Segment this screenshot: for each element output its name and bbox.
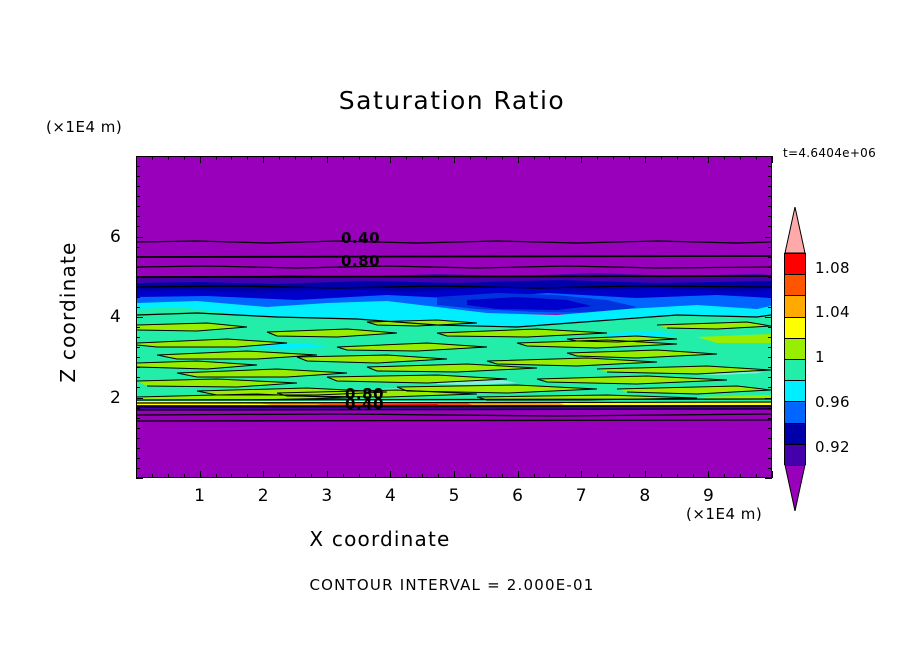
x-axis-tick — [406, 474, 407, 478]
y-axis-tick-right — [768, 206, 772, 207]
y-axis-tick-right — [768, 226, 772, 227]
y-axis-tick — [136, 408, 140, 409]
y-axis-tick-right — [768, 257, 772, 258]
colorbar-band — [785, 339, 805, 360]
x-axis-tick — [327, 471, 328, 478]
x-axis-tick-top — [693, 156, 694, 160]
y-axis-tick-right — [768, 327, 772, 328]
y-axis-tick-right — [768, 176, 772, 177]
x-axis-tick-top — [216, 156, 217, 160]
y-axis-tick — [136, 377, 140, 378]
y-axis-tick-right — [768, 287, 772, 288]
y-axis-tick-right — [768, 438, 772, 439]
y-axis-tick-right — [765, 317, 772, 318]
x-axis-tick — [581, 471, 582, 478]
x-axis-tick — [724, 474, 725, 478]
x-axis-tick — [486, 474, 487, 478]
y-axis-tick — [136, 468, 140, 469]
x-axis-tick-top — [263, 156, 264, 163]
contour-label-040-lower: 0.40 — [345, 395, 384, 413]
x-axis-tick — [295, 474, 296, 478]
x-axis-tick — [438, 474, 439, 478]
x-axis-tick-label: 3 — [321, 486, 332, 506]
contour-label-080-upper: 0.80 — [341, 252, 380, 270]
x-axis-tick-top — [438, 156, 439, 160]
y-axis-tick-right — [768, 468, 772, 469]
x-axis-tick-top — [597, 156, 598, 160]
x-axis-tick-top — [136, 156, 137, 163]
y-axis-tick — [136, 387, 140, 388]
x-axis-tick-top — [327, 156, 328, 163]
y-axis-tick — [136, 398, 143, 399]
x-axis-tick-top — [708, 156, 709, 163]
x-axis-tick-top — [247, 156, 248, 160]
x-axis-tick-label: 6 — [512, 486, 523, 506]
x-axis-tick-top — [581, 156, 582, 163]
x-axis-tick — [216, 474, 217, 478]
x-axis-tick — [168, 474, 169, 478]
x-axis-tick-label: 9 — [703, 486, 714, 506]
x-axis-tick-top — [152, 156, 153, 160]
y-axis-tick — [136, 428, 140, 429]
x-axis-tick-top — [295, 156, 296, 160]
y-axis-tick-right — [768, 357, 772, 358]
y-axis-tick-right — [768, 267, 772, 268]
x-axis-tick — [263, 471, 264, 478]
x-axis-tick-label: 8 — [639, 486, 650, 506]
x-axis-tick — [247, 474, 248, 478]
x-axis-tick — [518, 471, 519, 478]
y-axis-tick — [136, 418, 140, 419]
y-axis-tick-right — [768, 297, 772, 298]
colorbar-band — [785, 381, 805, 402]
y-axis-tick — [136, 166, 140, 167]
contour-plot-area: 0.40 0.80 0.80 0.40 — [136, 156, 772, 478]
x-axis-tick-top — [406, 156, 407, 160]
y-axis-tick — [136, 438, 140, 439]
contour-label-040-upper: 0.40 — [341, 229, 380, 247]
x-axis-tick — [311, 474, 312, 478]
x-axis-tick — [390, 471, 391, 478]
y-axis-tick — [136, 327, 140, 328]
x-axis-tick — [772, 471, 773, 478]
x-axis-tick-top — [518, 156, 519, 163]
x-axis-tick — [534, 474, 535, 478]
x-axis-tick — [231, 474, 232, 478]
x-axis-tick-top — [454, 156, 455, 163]
x-axis-tick — [597, 474, 598, 478]
colorbar-band — [785, 424, 805, 445]
colorbar-band — [785, 318, 805, 339]
y-axis-tick — [136, 357, 140, 358]
x-axis-tick-top — [168, 156, 169, 160]
x-axis-tick-top — [502, 156, 503, 160]
y-axis-tick-right — [768, 418, 772, 419]
x-axis-tick-top — [343, 156, 344, 160]
y-axis-tick — [136, 287, 140, 288]
y-axis-tick-label: 4 — [110, 307, 121, 327]
x-axis-tick-top — [629, 156, 630, 160]
colorbar-tick-label: 1.04 — [815, 303, 850, 321]
x-axis-tick-top — [645, 156, 646, 163]
x-axis-tick — [184, 474, 185, 478]
y-axis-tick — [136, 337, 140, 338]
x-axis-tick-top — [390, 156, 391, 163]
y-axis-tick-right — [768, 428, 772, 429]
y-axis-unit-label: (×1E4 m) — [46, 118, 122, 136]
x-axis-tick-top — [184, 156, 185, 160]
y-axis-tick-right — [768, 377, 772, 378]
y-axis-tick — [136, 267, 140, 268]
x-axis-tick — [629, 474, 630, 478]
x-axis-tick — [677, 474, 678, 478]
y-axis-tick — [136, 367, 140, 368]
x-axis-tick — [136, 471, 137, 478]
y-axis-tick-right — [768, 387, 772, 388]
y-axis-tick-right — [768, 166, 772, 167]
x-axis-tick-label: 4 — [385, 486, 396, 506]
colorbar-band — [785, 254, 805, 275]
x-axis-tick-label: 2 — [258, 486, 269, 506]
x-axis-tick — [359, 474, 360, 478]
x-axis-tick — [375, 474, 376, 478]
y-axis-tick — [136, 347, 140, 348]
y-axis-tick — [136, 226, 140, 227]
colorbar-tick-label: 0.96 — [815, 393, 850, 411]
x-axis-tick-top — [549, 156, 550, 160]
colorbar-band — [785, 296, 805, 317]
colorbar-band — [785, 275, 805, 296]
colorbar-bottom-arrow — [784, 465, 806, 511]
x-axis-unit-label: (×1E4 m) — [686, 505, 762, 523]
y-axis-tick-right — [768, 216, 772, 217]
x-axis-tick-top — [231, 156, 232, 160]
figure-canvas: Saturation Ratio (×1E4 m) t=4.6404e+06 Z… — [0, 0, 904, 654]
contour-interval-caption: CONTOUR INTERVAL = 2.000E-01 — [0, 576, 904, 594]
y-axis-tick — [136, 176, 140, 177]
x-axis-tick-label: 1 — [194, 486, 205, 506]
colorbar-top-arrow — [784, 207, 806, 253]
x-axis-tick — [661, 474, 662, 478]
x-axis-tick-top — [534, 156, 535, 160]
x-axis-tick — [502, 474, 503, 478]
time-annotation: t=4.6404e+06 — [783, 146, 876, 160]
x-axis-tick-top — [756, 156, 757, 160]
y-axis-tick-label: 6 — [110, 227, 121, 247]
y-axis-tick — [136, 156, 143, 157]
y-axis-tick-right — [768, 277, 772, 278]
y-axis-tick-right — [765, 156, 772, 157]
x-axis-tick-top — [375, 156, 376, 160]
colorbar[interactable] — [784, 253, 806, 465]
y-axis-tick-right — [768, 337, 772, 338]
x-axis-tick-top — [772, 156, 773, 163]
x-axis-tick — [422, 474, 423, 478]
x-axis-tick — [613, 474, 614, 478]
y-axis-title: Z coordinate — [56, 222, 80, 402]
x-axis-tick — [645, 471, 646, 478]
x-axis-tick-label: 5 — [449, 486, 460, 506]
y-axis-tick — [136, 206, 140, 207]
x-axis-tick-top — [565, 156, 566, 160]
y-axis-tick — [136, 247, 140, 248]
y-axis-tick-right — [768, 196, 772, 197]
x-axis-tick — [693, 474, 694, 478]
colorbar-tick-label: 1 — [815, 348, 825, 366]
x-axis-tick-top — [740, 156, 741, 160]
y-axis-tick — [136, 458, 140, 459]
x-axis-tick — [279, 474, 280, 478]
y-axis-tick-right — [768, 448, 772, 449]
x-axis-tick-top — [200, 156, 201, 163]
x-axis-tick — [549, 474, 550, 478]
contour-field — [137, 157, 771, 477]
y-axis-tick — [136, 186, 140, 187]
x-axis-tick — [708, 471, 709, 478]
y-axis-tick — [136, 216, 140, 217]
x-axis-tick-top — [359, 156, 360, 160]
y-axis-tick-right — [768, 367, 772, 368]
colorbar-tick-label: 1.08 — [815, 259, 850, 277]
x-axis-tick — [740, 474, 741, 478]
y-axis-tick-right — [768, 347, 772, 348]
x-axis-tick-top — [422, 156, 423, 160]
x-axis-tick — [152, 474, 153, 478]
y-axis-tick-right — [768, 247, 772, 248]
y-axis-tick — [136, 307, 140, 308]
y-axis-tick — [136, 257, 140, 258]
y-axis-tick-right — [765, 398, 772, 399]
y-axis-tick — [136, 297, 140, 298]
x-axis-tick-label: 7 — [576, 486, 587, 506]
x-axis-title: X coordinate — [0, 527, 760, 551]
y-axis-tick-label: 2 — [110, 388, 121, 408]
x-axis-tick-top — [486, 156, 487, 160]
colorbar-band — [785, 360, 805, 381]
x-axis-tick-top — [661, 156, 662, 160]
x-axis-tick-top — [613, 156, 614, 160]
y-axis-tick-right — [765, 237, 772, 238]
colorbar-band — [785, 402, 805, 423]
colorbar-band — [785, 445, 805, 466]
y-axis-tick — [136, 478, 143, 479]
y-axis-tick — [136, 237, 143, 238]
x-axis-tick — [470, 474, 471, 478]
x-axis-tick-top — [279, 156, 280, 160]
x-axis-tick — [200, 471, 201, 478]
y-axis-tick — [136, 196, 140, 197]
y-axis-tick-right — [768, 186, 772, 187]
x-axis-tick — [756, 474, 757, 478]
y-axis-tick-right — [768, 307, 772, 308]
x-axis-tick-top — [677, 156, 678, 160]
y-axis-tick — [136, 317, 143, 318]
y-axis-tick-right — [765, 478, 772, 479]
x-axis-tick-top — [311, 156, 312, 160]
colorbar-tick-label: 0.92 — [815, 438, 850, 456]
x-axis-tick — [454, 471, 455, 478]
x-axis-tick — [565, 474, 566, 478]
y-axis-tick — [136, 448, 140, 449]
y-axis-tick-right — [768, 458, 772, 459]
x-axis-tick — [343, 474, 344, 478]
y-axis-tick — [136, 277, 140, 278]
y-axis-tick-right — [768, 408, 772, 409]
x-axis-tick-top — [724, 156, 725, 160]
page-title: Saturation Ratio — [0, 86, 904, 115]
x-axis-tick-top — [470, 156, 471, 160]
